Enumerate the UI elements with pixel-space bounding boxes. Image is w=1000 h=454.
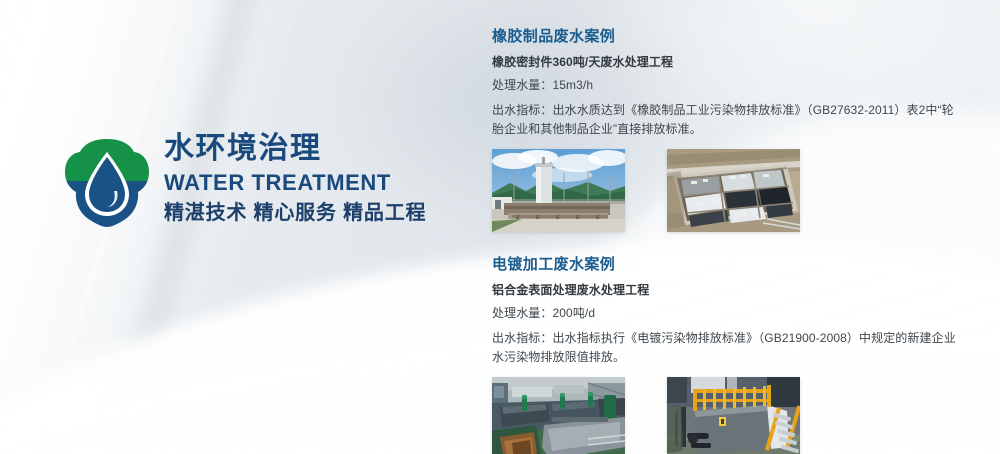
brand-slogan: 精湛技术 精心服务 精品工程 — [164, 203, 426, 223]
case-capacity: 处理水量：15m3/h — [492, 76, 962, 95]
brand-text-block: 水环境治理 WATER TREATMENT 精湛技术 精心服务 精品工程 — [164, 133, 426, 223]
case-photo-indoor-tanks[interactable] — [492, 377, 625, 454]
case-list: 橡胶制品废水案例 橡胶密封件360吨/天废水处理工程 处理水量：15m3/h 出… — [492, 28, 962, 454]
case-standard: 出水指标：出水水质达到《橡胶制品工业污染物排放标准》（GB27632-2011）… — [492, 101, 962, 138]
brand-title-en: WATER TREATMENT — [164, 172, 426, 194]
case-photo-row — [492, 377, 962, 454]
water-drop-flower-logo-icon — [64, 135, 150, 231]
case-subtitle: 铝合金表面处理废水处理工程 — [492, 283, 962, 299]
case-title: 橡胶制品废水案例 — [492, 28, 962, 47]
case-block-electroplating: 电镀加工废水案例 铝合金表面处理废水处理工程 处理水量：200吨/d 出水指标：… — [492, 256, 962, 454]
water-treatment-banner: 水环境治理 WATER TREATMENT 精湛技术 精心服务 精品工程 橡胶制… — [0, 0, 1000, 454]
case-photo-aerial-basins[interactable] — [667, 149, 800, 232]
case-standard: 出水指标：出水指标执行《电镀污染物排放标准》（GB21900-2008）中规定的… — [492, 329, 962, 366]
case-subtitle: 橡胶密封件360吨/天废水处理工程 — [492, 55, 962, 71]
case-photo-outdoor-silo[interactable] — [492, 149, 625, 232]
case-photo-row — [492, 149, 962, 232]
brand-title-cn: 水环境治理 — [164, 133, 426, 165]
case-block-rubber: 橡胶制品废水案例 橡胶密封件360吨/天废水处理工程 处理水量：15m3/h 出… — [492, 28, 962, 232]
case-capacity: 处理水量：200吨/d — [492, 304, 962, 323]
brand-block: 水环境治理 WATER TREATMENT 精湛技术 精心服务 精品工程 — [64, 133, 426, 231]
case-photo-tank-with-stairs[interactable] — [667, 377, 800, 454]
case-title: 电镀加工废水案例 — [492, 256, 962, 275]
